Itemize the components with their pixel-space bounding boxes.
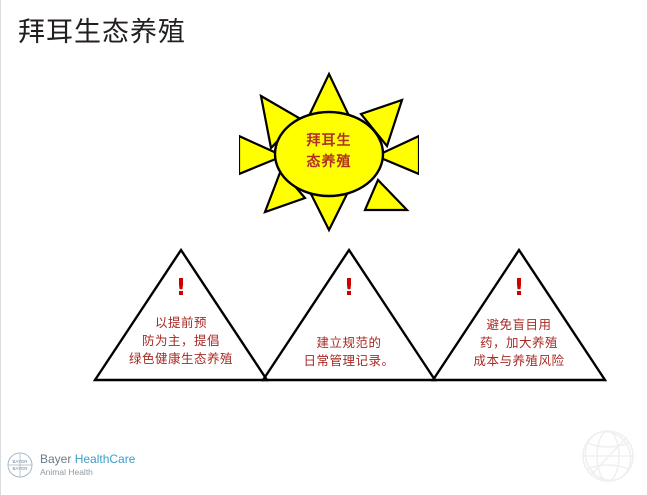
triangle-text-3: 避免盲目用 药，加大养殖 成本与养殖风险 [444,316,594,370]
triangle-text-1: 以提前预 防为主，提倡 绿色健康生态养殖 [106,314,256,368]
triangle-3-line-2: 药，加大养殖 [444,334,594,352]
triangle-1-line-2: 防为主，提倡 [106,332,256,350]
alert-icon: ! [106,277,256,300]
bayer-division: Animal Health [40,467,135,478]
triangle-text-2: 建立规范的 日常管理记录。 [274,334,424,370]
bayer-logo: BAYER BAYER Bayer HealthCare Animal Heal… [7,452,135,478]
triangle-1-line-3: 绿色健康生态养殖 [106,350,256,368]
triangle-1-line-1: 以提前预 [106,314,256,332]
triangle-item-1: ! 以提前预 防为主，提倡 绿色健康生态养殖 [106,277,256,368]
triangle-3-line-3: 成本与养殖风险 [444,352,594,370]
page-title: 拜耳生态养殖 [18,16,186,50]
triangle-row: ! 以提前预 防为主，提倡 绿色健康生态养殖 ! 建立规范的 日常管理记录。 !… [91,243,611,388]
alert-icon: ! [444,277,594,300]
globe-watermark-icon [577,427,639,485]
sun-graphic: 拜耳生 态养殖 [239,68,419,236]
svg-text:BAYER: BAYER [12,459,28,464]
svg-text:BAYER: BAYER [12,466,28,471]
triangle-2-line-1: 建立规范的 [274,334,424,352]
triangle-item-2: ! 建立规范的 日常管理记录。 [274,277,424,370]
bayer-brand: Bayer [40,452,75,466]
bayer-cross-icon: BAYER BAYER [7,452,33,478]
triangle-3-line-1: 避免盲目用 [444,316,594,334]
sun-ray-se [365,180,407,210]
triangle-2-line-2: 日常管理记录。 [274,352,424,370]
triangle-item-3: ! 避免盲目用 药，加大养殖 成本与养殖风险 [444,277,594,370]
slide-canvas: 拜耳生态养殖 [0,0,647,495]
bayer-brand-line: Bayer HealthCare [40,453,135,466]
bayer-wordmark: Bayer HealthCare Animal Health [40,453,135,478]
alert-icon: ! [274,277,424,300]
sun-core-ellipse [275,112,383,196]
bayer-healthcare: HealthCare [75,452,136,466]
